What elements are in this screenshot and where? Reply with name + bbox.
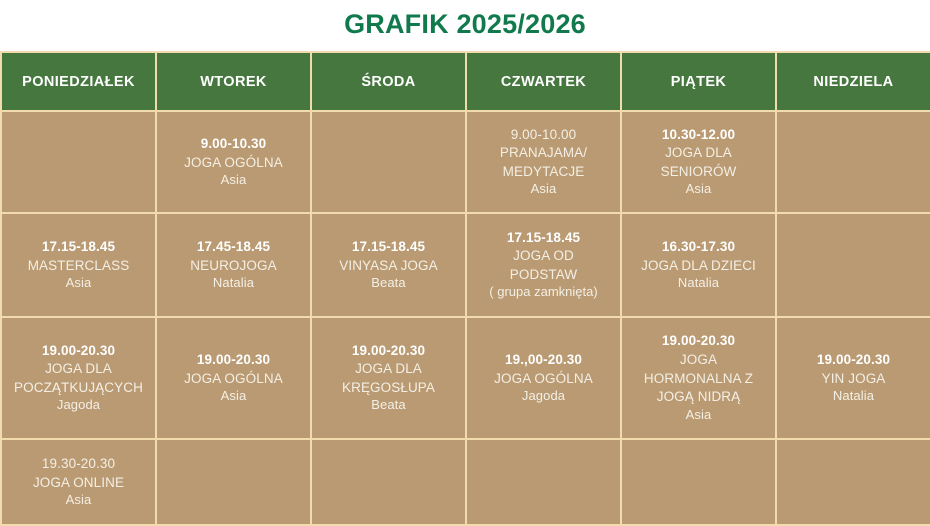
- class-time: 19.00-20.30: [42, 342, 115, 360]
- schedule-cell-poniedzialek[interactable]: 19.00-20.30JOGA DLAPOCZĄTKUJĄCYCHJagoda: [1, 317, 156, 439]
- class-time: 19.00-20.30: [817, 351, 890, 369]
- class-teacher: Asia: [686, 181, 712, 198]
- class-name-line2: KRĘGOSŁUPA: [342, 379, 435, 397]
- schedule-cell-empty-sroda: [311, 439, 466, 525]
- class-entry: 19.00-20.30JOGA DLAKRĘGOSŁUPABeata: [318, 342, 459, 415]
- class-teacher: Asia: [221, 172, 247, 189]
- class-time: 19.00-20.30: [197, 351, 270, 369]
- class-entry: 17.45-18.45NEUROJOGANatalia: [163, 238, 304, 292]
- class-name-line2: HORMONALNA Z: [644, 370, 753, 388]
- schedule-page: GRAFIK 2025/2026 PONIEDZIAŁEK WTOREK ŚRO…: [0, 0, 930, 523]
- schedule-cell-empty-sroda: [311, 111, 466, 213]
- class-teacher: Natalia: [833, 388, 874, 405]
- schedule-cell-czwartek[interactable]: 17.15-18.45JOGA ODPODSTAW( grupa zamknię…: [466, 213, 621, 317]
- class-teacher: Natalia: [213, 275, 254, 292]
- empty-slot: [163, 482, 304, 483]
- class-teacher: Asia: [686, 407, 712, 424]
- class-name: NEUROJOGA: [190, 257, 276, 275]
- class-name-line3: JOGĄ NIDRĄ: [657, 388, 741, 406]
- empty-slot: [318, 162, 459, 163]
- schedule-body: 9.00-10.30JOGA OGÓLNAAsia9.00-10.00PRANA…: [1, 111, 930, 525]
- class-name: JOGA OGÓLNA: [184, 154, 283, 172]
- schedule-row: 19.00-20.30JOGA DLAPOCZĄTKUJĄCYCHJagoda1…: [1, 317, 930, 439]
- schedule-cell-wtorek[interactable]: 17.45-18.45NEUROJOGANatalia: [156, 213, 311, 317]
- schedule-table: PONIEDZIAŁEK WTOREK ŚRODA CZWARTEK PIĄTE…: [0, 51, 930, 526]
- class-time: 16.30-17.30: [662, 238, 735, 256]
- schedule-cell-empty-poniedzialek: [1, 111, 156, 213]
- class-name: YIN JOGA: [822, 370, 886, 388]
- day-header-poniedzialek: PONIEDZIAŁEK: [1, 52, 156, 111]
- class-entry: 19.30-20.30JOGA ONLINEAsia: [8, 455, 149, 509]
- class-name: JOGA DLA DZIECI: [641, 257, 756, 275]
- empty-slot: [783, 482, 924, 483]
- schedule-cell-czwartek[interactable]: 9.00-10.00PRANAJAMA/MEDYTACJEAsia: [466, 111, 621, 213]
- day-header-niedziela: NIEDZIELA: [776, 52, 930, 111]
- class-time: 19.30-20.30: [42, 455, 115, 473]
- schedule-cell-piatek[interactable]: 19.00-20.30JOGAHORMONALNA ZJOGĄ NIDRĄAsi…: [621, 317, 776, 439]
- schedule-cell-sroda[interactable]: 17.15-18.45VINYASA JOGABeata: [311, 213, 466, 317]
- schedule-cell-empty-niedziela: [776, 439, 930, 525]
- class-teacher: Jagoda: [57, 397, 100, 414]
- class-teacher: Beata: [371, 275, 405, 292]
- class-time: 9.00-10.30: [201, 135, 267, 153]
- schedule-cell-niedziela[interactable]: 19.00-20.30YIN JOGANatalia: [776, 317, 930, 439]
- class-entry: 19.00-20.30JOGA OGÓLNAAsia: [163, 351, 304, 405]
- schedule-cell-poniedzialek[interactable]: 19.30-20.30JOGA ONLINEAsia: [1, 439, 156, 525]
- class-name: JOGA ONLINE: [33, 474, 124, 492]
- class-name: MASTERCLASS: [28, 257, 130, 275]
- class-time: 17.15-18.45: [507, 229, 580, 247]
- class-name: VINYASA JOGA: [339, 257, 437, 275]
- empty-slot: [473, 482, 614, 483]
- class-name-line2: MEDYTACJE: [503, 163, 585, 181]
- header-row: PONIEDZIAŁEK WTOREK ŚRODA CZWARTEK PIĄTE…: [1, 52, 930, 111]
- class-entry: 17.15-18.45MASTERCLASSAsia: [8, 238, 149, 292]
- schedule-cell-empty-niedziela: [776, 213, 930, 317]
- schedule-row: 9.00-10.30JOGA OGÓLNAAsia9.00-10.00PRANA…: [1, 111, 930, 213]
- class-note: ( grupa zamknięta): [489, 284, 597, 301]
- day-header-piatek: PIĄTEK: [621, 52, 776, 111]
- class-name-line2: PODSTAW: [510, 266, 577, 284]
- title-bar: GRAFIK 2025/2026: [0, 0, 930, 51]
- class-name: JOGA: [680, 351, 717, 369]
- class-time: 19.00-20.30: [352, 342, 425, 360]
- class-name: PRANAJAMA/: [500, 144, 587, 162]
- class-name: JOGA OGÓLNA: [184, 370, 283, 388]
- empty-slot: [8, 162, 149, 163]
- schedule-cell-czwartek[interactable]: 19.,00-20.30JOGA OGÓLNAJagoda: [466, 317, 621, 439]
- class-time: 17.45-18.45: [197, 238, 270, 256]
- class-entry: 16.30-17.30JOGA DLA DZIECINatalia: [628, 238, 769, 292]
- class-name: JOGA OD: [513, 247, 574, 265]
- schedule-cell-empty-niedziela: [776, 111, 930, 213]
- class-entry: 17.15-18.45JOGA ODPODSTAW( grupa zamknię…: [473, 229, 614, 302]
- class-time: 10.30-12.00: [662, 126, 735, 144]
- schedule-row: 17.15-18.45MASTERCLASSAsia17.45-18.45NEU…: [1, 213, 930, 317]
- class-entry: 19.,00-20.30JOGA OGÓLNAJagoda: [473, 351, 614, 405]
- class-teacher: Natalia: [678, 275, 719, 292]
- empty-slot: [783, 265, 924, 266]
- schedule-cell-sroda[interactable]: 19.00-20.30JOGA DLAKRĘGOSŁUPABeata: [311, 317, 466, 439]
- class-time: 17.15-18.45: [42, 238, 115, 256]
- schedule-row: 19.30-20.30JOGA ONLINEAsia: [1, 439, 930, 525]
- class-name: JOGA DLA: [45, 360, 112, 378]
- class-name: JOGA DLA: [355, 360, 422, 378]
- empty-slot: [783, 162, 924, 163]
- class-teacher: Jagoda: [522, 388, 565, 405]
- class-entry: 19.00-20.30JOGAHORMONALNA ZJOGĄ NIDRĄAsi…: [628, 332, 769, 423]
- class-time: 19.00-20.30: [662, 332, 735, 350]
- schedule-cell-wtorek[interactable]: 19.00-20.30JOGA OGÓLNAAsia: [156, 317, 311, 439]
- class-teacher: Asia: [66, 275, 92, 292]
- class-entry: 19.00-20.30YIN JOGANatalia: [783, 351, 924, 405]
- schedule-cell-piatek[interactable]: 16.30-17.30JOGA DLA DZIECINatalia: [621, 213, 776, 317]
- class-entry: 10.30-12.00JOGA DLASENIORÓWAsia: [628, 126, 769, 199]
- class-entry: 9.00-10.30JOGA OGÓLNAAsia: [163, 135, 304, 189]
- class-name: JOGA OGÓLNA: [494, 370, 593, 388]
- class-entry: 19.00-20.30JOGA DLAPOCZĄTKUJĄCYCHJagoda: [8, 342, 149, 415]
- class-entry: 9.00-10.00PRANAJAMA/MEDYTACJEAsia: [473, 126, 614, 199]
- schedule-cell-piatek[interactable]: 10.30-12.00JOGA DLASENIORÓWAsia: [621, 111, 776, 213]
- schedule-cell-empty-wtorek: [156, 439, 311, 525]
- class-time: 17.15-18.45: [352, 238, 425, 256]
- schedule-cell-empty-piatek: [621, 439, 776, 525]
- class-time: 19.,00-20.30: [505, 351, 582, 369]
- class-teacher: Beata: [371, 397, 405, 414]
- class-entry: 17.15-18.45VINYASA JOGABeata: [318, 238, 459, 292]
- day-header-wtorek: WTOREK: [156, 52, 311, 111]
- class-teacher: Asia: [221, 388, 247, 405]
- schedule-cell-wtorek[interactable]: 9.00-10.30JOGA OGÓLNAAsia: [156, 111, 311, 213]
- class-time: 9.00-10.00: [511, 126, 577, 144]
- empty-slot: [628, 482, 769, 483]
- day-header-sroda: ŚRODA: [311, 52, 466, 111]
- schedule-header: PONIEDZIAŁEK WTOREK ŚRODA CZWARTEK PIĄTE…: [1, 52, 930, 111]
- schedule-cell-poniedzialek[interactable]: 17.15-18.45MASTERCLASSAsia: [1, 213, 156, 317]
- class-name: JOGA DLA: [665, 144, 732, 162]
- schedule-cell-empty-czwartek: [466, 439, 621, 525]
- day-header-czwartek: CZWARTEK: [466, 52, 621, 111]
- class-teacher: Asia: [531, 181, 557, 198]
- page-title: GRAFIK 2025/2026: [344, 11, 586, 40]
- class-teacher: Asia: [66, 492, 92, 509]
- empty-slot: [318, 482, 459, 483]
- class-name-line2: SENIORÓW: [661, 163, 737, 181]
- class-name-line2: POCZĄTKUJĄCYCH: [14, 379, 143, 397]
